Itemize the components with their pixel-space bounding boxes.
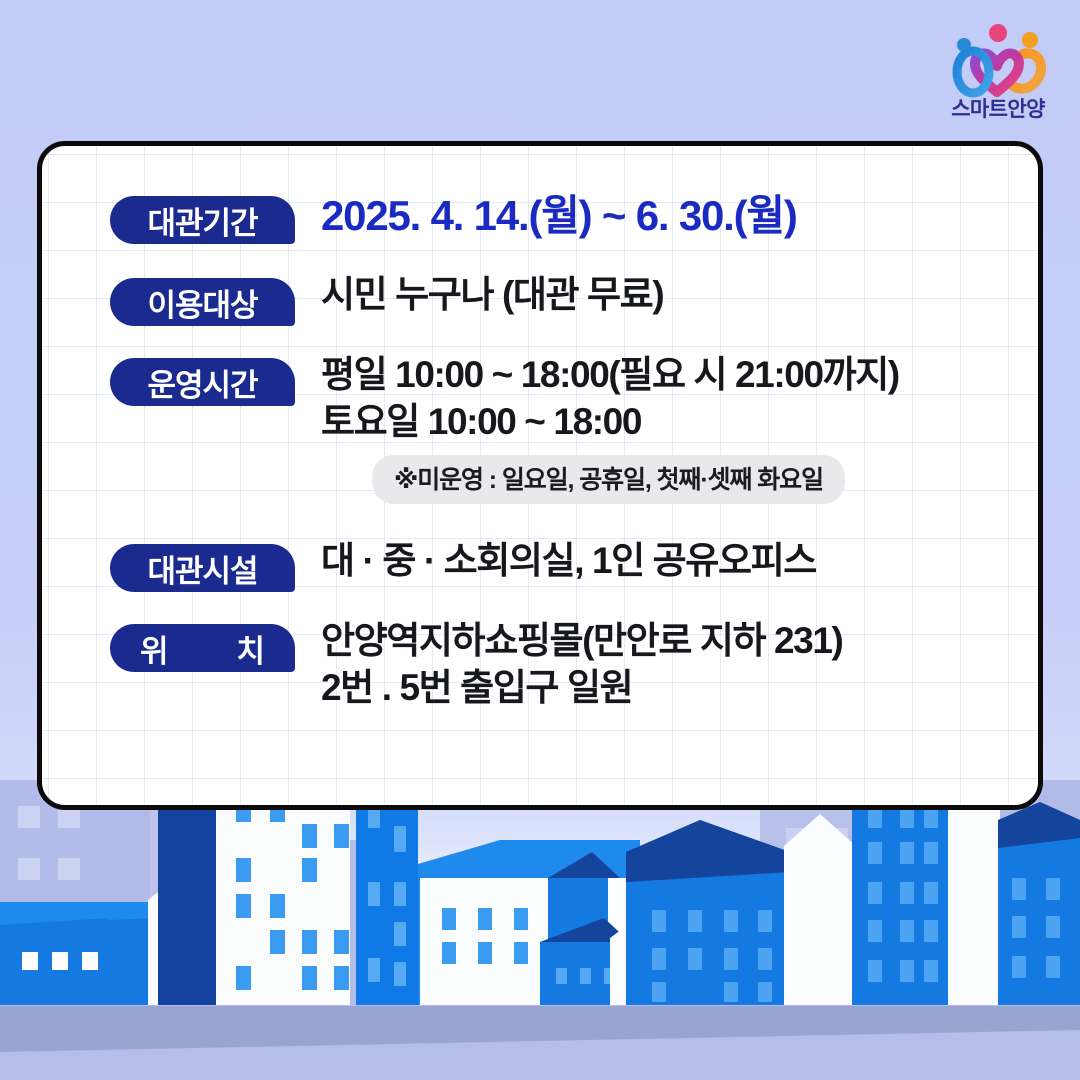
value-rental-period: 2025. 4. 14.(월) ~ 6. 30.(월) bbox=[321, 190, 797, 243]
value-location-address: 안양역지하쇼핑몰(만안로 지하 231) bbox=[321, 618, 842, 665]
label-badge-location-char2: 치 bbox=[236, 626, 265, 671]
label-badge-operating-hours: 운영시간 bbox=[110, 358, 295, 406]
row-operating-hours: 운영시간 평일 10:00 ~ 18:00(필요 시 21:00까지) 토요일 … bbox=[42, 352, 1038, 445]
closed-days-note-wrapper: ※미운영 : 일요일, 공휴일, 첫째·셋째 화요일 bbox=[42, 455, 1038, 504]
value-group-facilities: 대 · 중 · 소회의실, 1인 공유오피스 bbox=[321, 538, 816, 585]
label-badge-facilities: 대관시설 bbox=[110, 544, 295, 592]
label-badge-rental-period: 대관기간 bbox=[110, 196, 295, 244]
poster-root: 스마트안양 대관기간 2025. 4. 14.(월) ~ 6. 30.(월) 이… bbox=[0, 0, 1080, 1080]
brand-logo: 스마트안양 bbox=[938, 20, 1058, 130]
value-group-eligible-users: 시민 누구나 (대관 무료) bbox=[321, 272, 663, 319]
value-group-rental-period: 2025. 4. 14.(월) ~ 6. 30.(월) bbox=[321, 190, 797, 243]
value-group-operating-hours: 평일 10:00 ~ 18:00(필요 시 21:00까지) 토요일 10:00… bbox=[321, 352, 899, 445]
value-operating-hours-saturday: 토요일 10:00 ~ 18:00 bbox=[321, 399, 899, 446]
label-badge-eligible-users: 이용대상 bbox=[110, 278, 295, 326]
value-operating-hours-weekday: 평일 10:00 ~ 18:00(필요 시 21:00까지) bbox=[321, 352, 899, 399]
label-badge-location-char1: 위 bbox=[140, 626, 169, 671]
smart-anyang-heart-infinity-logo-icon bbox=[945, 20, 1051, 98]
row-rental-period: 대관기간 2025. 4. 14.(월) ~ 6. 30.(월) bbox=[42, 190, 1038, 244]
value-group-location: 안양역지하쇼핑몰(만안로 지하 231) 2번 . 5번 출입구 일원 bbox=[321, 618, 842, 711]
value-location-exits: 2번 . 5번 출입구 일원 bbox=[321, 665, 842, 712]
value-facilities: 대 · 중 · 소회의실, 1인 공유오피스 bbox=[321, 538, 816, 585]
label-badge-location: 위 치 bbox=[110, 624, 295, 672]
row-facilities: 대관시설 대 · 중 · 소회의실, 1인 공유오피스 bbox=[42, 538, 1038, 592]
info-card: 대관기간 2025. 4. 14.(월) ~ 6. 30.(월) 이용대상 시민… bbox=[37, 141, 1043, 810]
city-skyline-illustration bbox=[0, 790, 1080, 1080]
info-rows: 대관기간 2025. 4. 14.(월) ~ 6. 30.(월) 이용대상 시민… bbox=[42, 146, 1038, 711]
closed-days-note: ※미운영 : 일요일, 공휴일, 첫째·셋째 화요일 bbox=[372, 455, 845, 504]
row-eligible-users: 이용대상 시민 누구나 (대관 무료) bbox=[42, 272, 1038, 326]
value-eligible-users: 시민 누구나 (대관 무료) bbox=[321, 272, 663, 319]
brand-logo-text: 스마트안양 bbox=[938, 99, 1058, 120]
row-location: 위 치 안양역지하쇼핑몰(만안로 지하 231) 2번 . 5번 출입구 일원 bbox=[42, 618, 1038, 711]
